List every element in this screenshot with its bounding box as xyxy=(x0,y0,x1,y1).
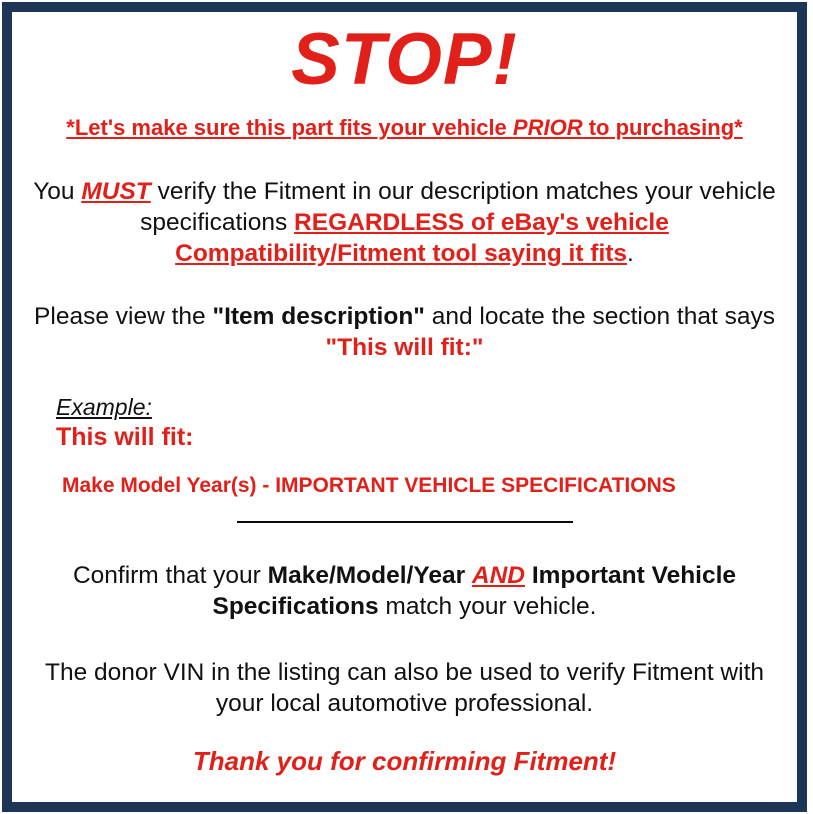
example-spec-line: Make Model Year(s) - IMPORTANT VEHICLE S… xyxy=(56,473,791,499)
stop-headline: STOP! xyxy=(18,20,791,100)
fitment-tagline: *Let's make sure this part fits your veh… xyxy=(18,114,791,142)
and-emphasis: AND xyxy=(472,562,525,589)
notice-panel: STOP! *Let's make sure this part fits yo… xyxy=(2,2,807,812)
paragraph-must-verify: You MUST verify the Fitment in our descr… xyxy=(18,176,791,269)
section-divider xyxy=(18,521,791,531)
make-model-year-emphasis: Make/Model/Year xyxy=(268,562,465,589)
thank-you-message: Thank you for confirming Fitment! xyxy=(18,745,791,777)
must-part1: You xyxy=(33,178,81,205)
example-label: Example: xyxy=(56,393,791,421)
paragraph-donor-vin: The donor VIN in the listing can also be… xyxy=(18,657,791,719)
this-will-fit-emphasis: "This will fit:" xyxy=(326,334,484,361)
paragraph-item-description: Please view the "Item description" and l… xyxy=(18,301,791,363)
confirm-part2 xyxy=(465,562,472,589)
must-emphasis: MUST xyxy=(81,178,150,205)
paragraph-confirm: Confirm that your Make/Model/Year AND Im… xyxy=(18,560,791,622)
confirm-part4: match your vehicle. xyxy=(379,593,597,620)
confirm-part3 xyxy=(525,562,532,589)
must-part3: . xyxy=(627,240,634,267)
confirm-part1: Confirm that your xyxy=(73,562,268,589)
itemdesc-part1: Please view the xyxy=(34,303,212,330)
tagline-suffix: to purchasing* xyxy=(583,115,743,140)
tagline-emphasis-prior: PRIOR xyxy=(513,115,583,140)
itemdesc-part2: and locate the section that says xyxy=(425,303,775,330)
example-fit-heading: This will fit: xyxy=(56,422,791,452)
divider-rule xyxy=(237,521,573,523)
tagline-prefix: *Let's make sure this part fits your veh… xyxy=(66,115,513,140)
example-block: Example: This will fit: Make Model Year(… xyxy=(18,393,791,499)
item-description-emphasis: "Item description" xyxy=(212,303,424,330)
notice-frame: STOP! *Let's make sure this part fits yo… xyxy=(0,0,813,814)
